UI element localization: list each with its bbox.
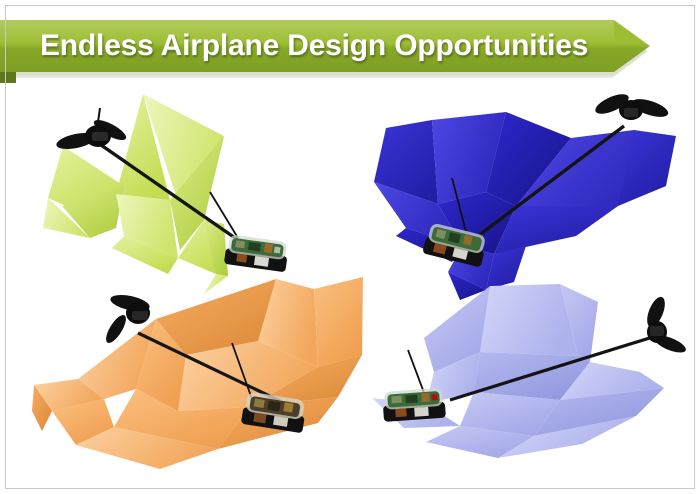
plane-blue [366, 86, 694, 306]
wing-panel [314, 277, 363, 367]
plane-green [28, 88, 358, 298]
propeller-motor-assembly [55, 108, 129, 152]
propeller-motor-assembly [644, 295, 688, 356]
page-title: Endless Airplane Design Opportunities [40, 20, 588, 72]
screenshot-root: Endless Airplane Design Opportunities [0, 0, 700, 494]
propeller-motor-assembly [593, 90, 671, 120]
title-banner: Endless Airplane Design Opportunities [0, 20, 660, 76]
product-photo [6, 86, 694, 488]
plane-purple [364, 276, 694, 471]
plane-orange [18, 271, 378, 476]
circuit-board-module [382, 388, 446, 422]
circuit-board-module [224, 234, 290, 272]
banner-fold-tab [0, 72, 16, 83]
